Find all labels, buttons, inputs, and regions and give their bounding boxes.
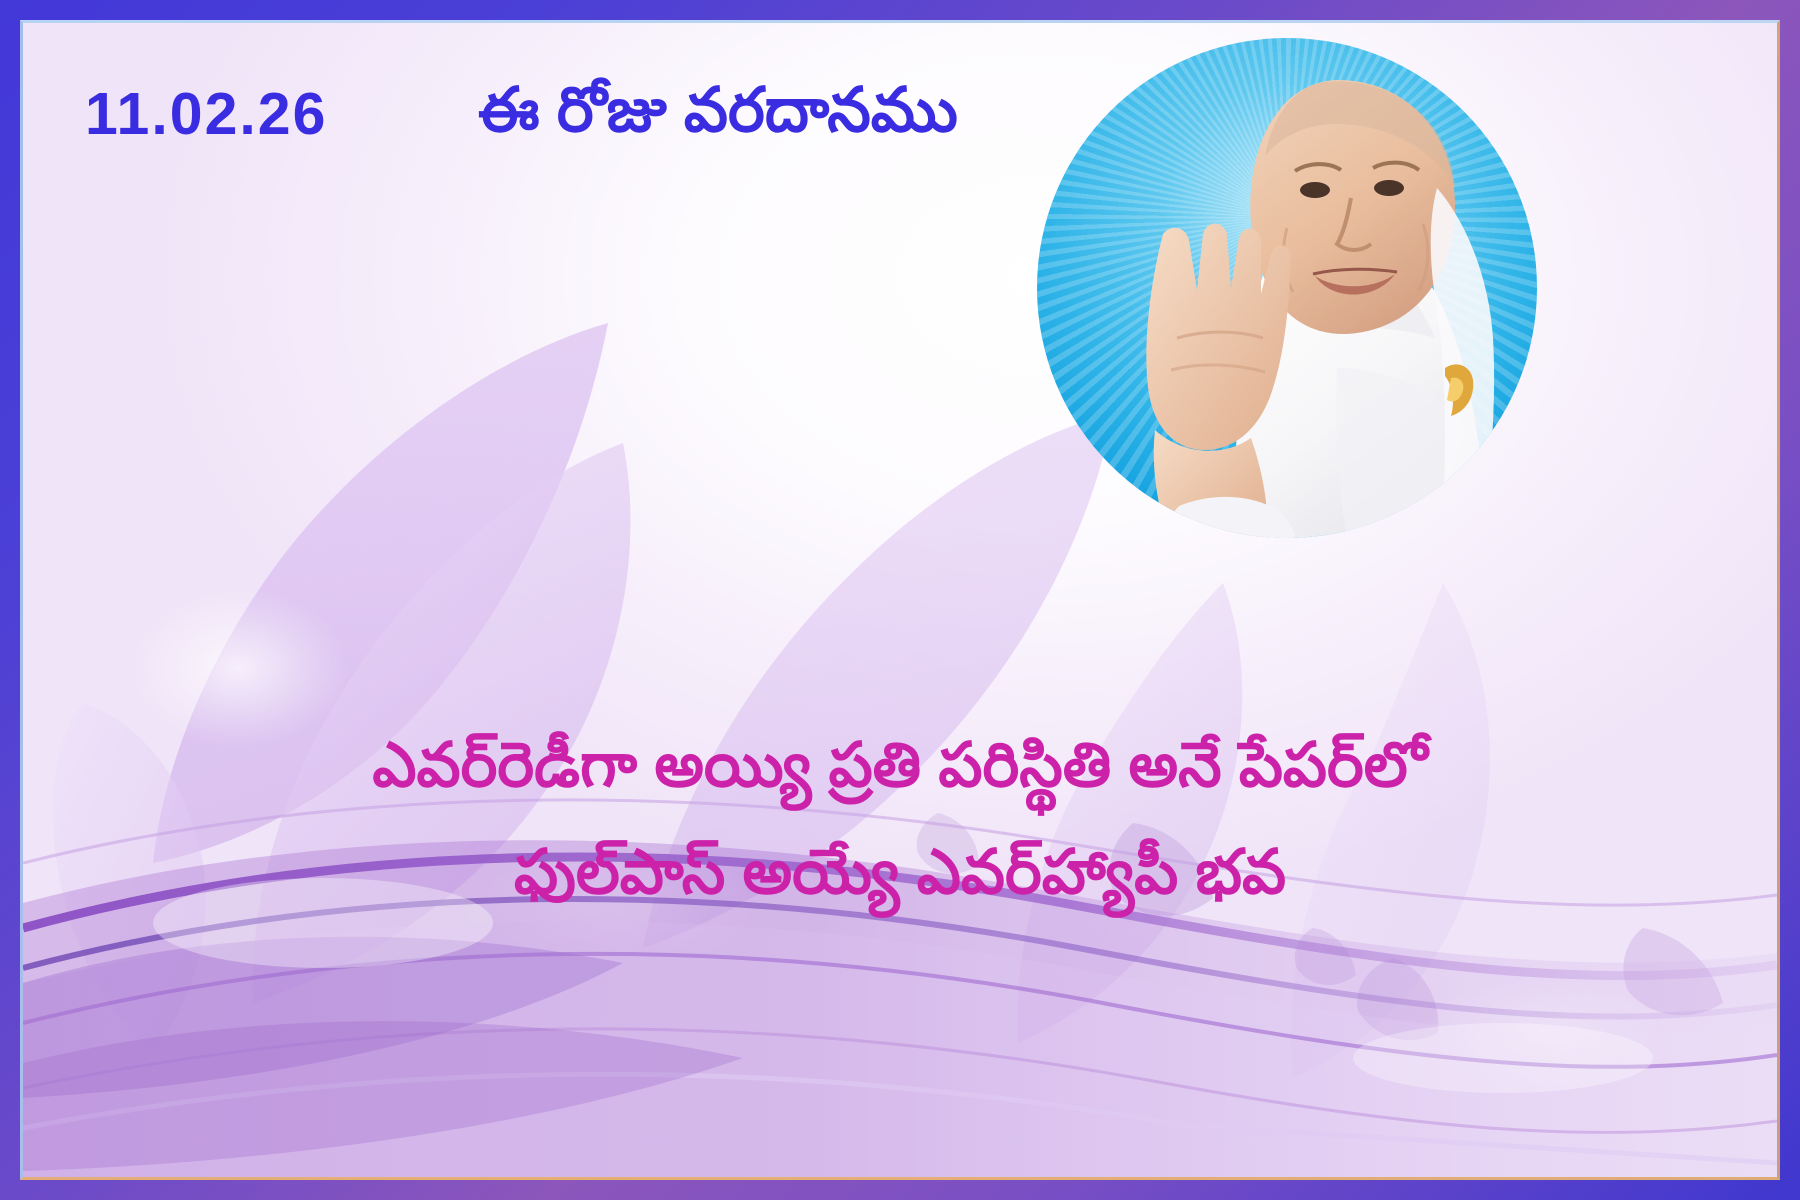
date-label: 11.02.26 bbox=[85, 80, 327, 148]
slide-canvas: 11.02.26 ఈ రోజు వరదానము bbox=[23, 23, 1777, 1177]
slide-frame: 11.02.26 ఈ రోజు వరదానము bbox=[0, 0, 1800, 1200]
message-line-1: ఎవర్‌రెడీగా అయ్యి ప్రతి పరిస్థితి అనే పే… bbox=[23, 713, 1777, 820]
varadan-message: ఎవర్‌రెడీగా అయ్యి ప్రతి పరిస్థితి అనే పే… bbox=[23, 713, 1777, 926]
portrait-figure bbox=[1037, 38, 1537, 538]
message-line-2: ఫుల్‌పాస్ అయ్యే ఎవర్‌హ్యాపీ భవ bbox=[23, 820, 1777, 927]
avatar bbox=[1037, 38, 1537, 538]
page-title: ఈ రోజు వరదానము bbox=[478, 75, 958, 161]
